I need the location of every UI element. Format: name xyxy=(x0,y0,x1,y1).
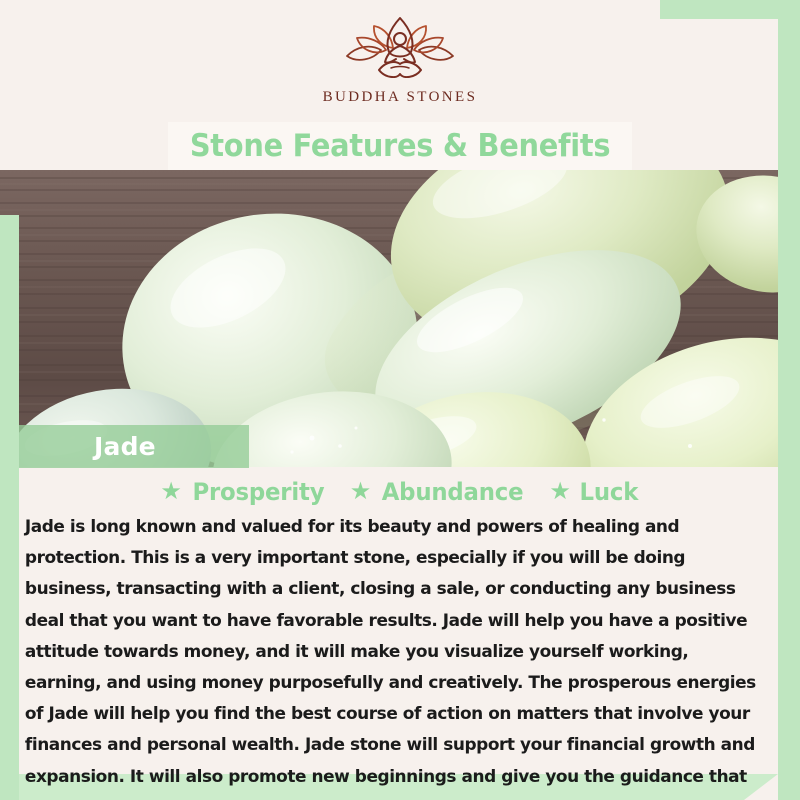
stone-name: Jade xyxy=(94,432,156,461)
benefit-item: ★ Prosperity xyxy=(160,478,327,506)
benefit-item: ★ Luck xyxy=(549,478,639,506)
benefit-label: Abundance xyxy=(382,478,524,506)
page-title-banner: Stone Features & Benefits xyxy=(168,122,632,170)
stone-benefits-poster: BUDDHA STONES xyxy=(0,0,800,800)
benefit-label: Luck xyxy=(579,478,638,506)
stone-description: Jade is long known and valued for its be… xyxy=(19,508,770,800)
page-title: Stone Features & Benefits xyxy=(190,128,610,164)
jade-stones-photo xyxy=(0,170,800,467)
lotus-meditation-icon xyxy=(341,16,459,82)
left-accent-band xyxy=(0,215,19,800)
benefits-row: ★ Prosperity ★ Abundance ★ Luck xyxy=(0,478,800,506)
benefit-label: Prosperity xyxy=(192,478,324,506)
brand-wordmark: BUDDHA STONES xyxy=(323,89,478,106)
star-icon: ★ xyxy=(160,480,182,504)
star-icon: ★ xyxy=(350,480,372,504)
stone-name-banner: Jade xyxy=(19,425,249,468)
benefit-item: ★ Abundance xyxy=(350,478,528,506)
star-icon: ★ xyxy=(549,480,571,504)
right-accent-band xyxy=(778,0,800,800)
